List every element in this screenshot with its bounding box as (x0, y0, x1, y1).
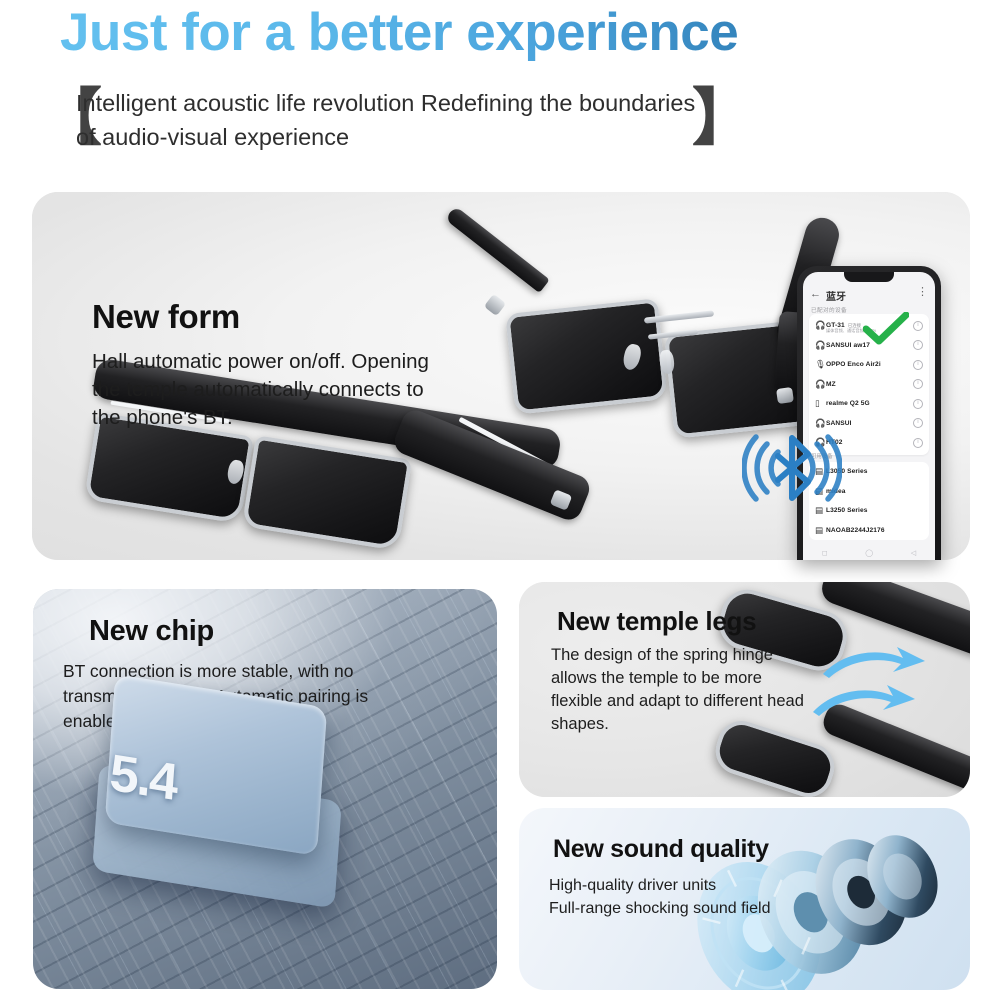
nav-home-icon[interactable]: ◯ (865, 549, 873, 557)
list-item[interactable]: ▤ NAOAB2244J2176 (809, 521, 929, 541)
flex-arrow-top-icon (819, 644, 929, 684)
new-form-title: New form (92, 298, 240, 336)
bluetooth-screen-header: ← 蓝牙 ⋮ (803, 284, 935, 304)
sound-quality-title: New sound quality (553, 835, 769, 864)
info-icon[interactable]: i (913, 399, 923, 409)
nav-recents-icon[interactable]: ◻ (822, 549, 828, 557)
sound-quality-line-1: High-quality driver units (549, 874, 849, 897)
info-icon[interactable]: i (913, 438, 923, 448)
list-item[interactable]: 🎧 MZ i (809, 375, 929, 395)
info-icon[interactable]: i (913, 418, 923, 428)
phone-nav-bar: ◻ ◯ ◁ (803, 546, 935, 560)
infographic-root: Just for a better experience 【 Intellige… (0, 0, 1000, 1000)
bluetooth-icon (742, 418, 842, 518)
page-title: Just for a better experience (60, 2, 940, 64)
subtitle-block: 【 Intelligent acoustic life revolution R… (40, 86, 740, 162)
panel-temple-legs: New temple legs The design of the spring… (519, 582, 970, 797)
back-arrow-icon[interactable]: ← (810, 288, 821, 300)
info-icon[interactable]: i (913, 340, 923, 350)
headphones-icon: 🎧 (815, 320, 826, 331)
bluetooth-screen-title: 蓝牙 (826, 288, 846, 303)
phone-icon: ▯ (815, 398, 826, 409)
sound-quality-body: High-quality driver units Full-range sho… (549, 874, 849, 920)
subtitle-text: Intelligent acoustic life revolution Red… (76, 86, 716, 154)
info-icon[interactable]: i (913, 360, 923, 370)
new-form-body: Hall automatic power on/off. Opening the… (92, 348, 452, 432)
list-item[interactable]: ▯ realme Q2 5G i (809, 394, 929, 414)
chip-version-label: 5.4 (108, 743, 178, 813)
bracket-right-icon: 】 (692, 88, 754, 148)
headphones-icon: 🎧 (815, 379, 826, 390)
device-name: OPPO Enco Air2i (826, 361, 881, 368)
sound-quality-line-2: Full-range shocking sound field (549, 897, 849, 920)
panel-sound-quality: New sound quality High-quality driver un… (519, 808, 970, 990)
nav-back-icon[interactable]: ◁ (911, 549, 916, 557)
earbuds-icon: 🎙 (815, 359, 826, 370)
temple-legs-body: The design of the spring hinge allows th… (551, 644, 813, 736)
device-name: MZ (826, 381, 836, 388)
device-icon: ▤ (815, 525, 826, 536)
overflow-menu-icon[interactable]: ⋮ (917, 287, 928, 298)
device-name: NAOAB2244J2176 (826, 527, 885, 534)
glasses-hinge-right-upper (776, 387, 794, 404)
phone-notch (844, 272, 894, 282)
connected-check-icon (863, 312, 909, 346)
info-icon[interactable]: i (913, 321, 923, 331)
paired-section-label: 已配对的设备 (811, 306, 847, 314)
flex-arrow-bottom-icon (809, 682, 919, 722)
list-item[interactable]: 🎙 OPPO Enco Air2i i (809, 355, 929, 375)
new-chip-title: New chip (89, 615, 214, 648)
device-name: realme Q2 5G (826, 400, 870, 407)
headphones-icon: 🎧 (815, 340, 826, 351)
info-icon[interactable]: i (913, 379, 923, 389)
temple-legs-title: New temple legs (557, 606, 756, 637)
glasses-lens-left-upper (505, 298, 668, 414)
